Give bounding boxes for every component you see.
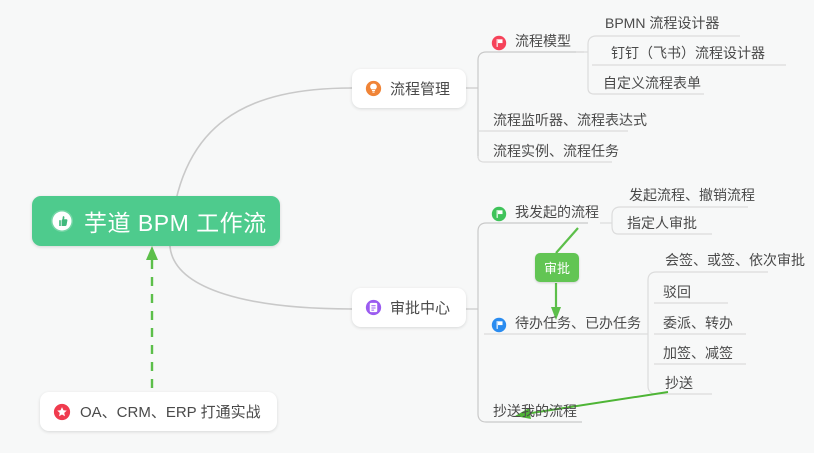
leaf-label: 会签、或签、依次审批 xyxy=(665,250,805,270)
thumbs-up-icon xyxy=(50,209,74,233)
branch-label: 流程管理 xyxy=(390,78,450,99)
leaf-countersign-or-sequential[interactable]: 会签、或签、依次审批 xyxy=(656,249,814,275)
leaf-process-instance-task[interactable]: 流程实例、流程任务 xyxy=(484,140,628,166)
leaf-process-model[interactable]: 流程模型 xyxy=(484,30,580,56)
leaf-label: 自定义流程表单 xyxy=(603,73,701,93)
leaf-label: 加签、减签 xyxy=(663,343,733,363)
lightbulb-icon xyxy=(365,80,382,97)
badge-label: 审批 xyxy=(544,261,570,276)
leaf-label: 流程监听器、流程表达式 xyxy=(493,110,647,130)
leaf-my-initiated-process[interactable]: 我发起的流程 xyxy=(484,201,608,227)
leaf-label: BPMN 流程设计器 xyxy=(605,13,719,33)
root-node[interactable]: 芋道 BPM 工作流 xyxy=(32,196,280,246)
leaf-label: 抄送我的流程 xyxy=(493,401,577,421)
star-icon-red xyxy=(53,403,71,421)
leaf-label: 钉钉（飞书）流程设计器 xyxy=(611,43,765,63)
integration-label: OA、CRM、ERP 打通实战 xyxy=(80,401,261,422)
leaf-reject[interactable]: 驳回 xyxy=(654,281,700,307)
leaf-todo-done-tasks[interactable]: 待办任务、已办任务 xyxy=(484,312,650,338)
leaf-label: 驳回 xyxy=(663,282,691,302)
leaf-cc-to-me-process[interactable]: 抄送我的流程 xyxy=(484,400,586,426)
root-label: 芋道 BPM 工作流 xyxy=(84,204,267,238)
leaf-add-remove-sign[interactable]: 加签、减签 xyxy=(654,342,742,368)
leaf-cc[interactable]: 抄送 xyxy=(656,372,702,398)
approve-annotation-badge: 审批 xyxy=(535,253,579,282)
flag-icon-red xyxy=(491,35,507,51)
leaf-custom-process-form[interactable]: 自定义流程表单 xyxy=(594,72,710,98)
leaf-delegate-transfer[interactable]: 委派、转办 xyxy=(654,312,742,338)
leaf-assignee-approval[interactable]: 指定人审批 xyxy=(618,212,706,238)
leaf-label: 待办任务、已办任务 xyxy=(515,313,641,333)
leaf-label: 委派、转办 xyxy=(663,313,733,333)
leaf-label: 流程实例、流程任务 xyxy=(493,141,619,161)
leaf-dingtalk-feishu-designer[interactable]: 钉钉（飞书）流程设计器 xyxy=(602,42,774,68)
flag-icon-blue xyxy=(491,317,507,333)
mindmap-canvas: 芋道 BPM 工作流 流程管理 流程模型 BPMN 流程设计器 钉钉（飞书）流程 xyxy=(0,0,814,453)
leaf-label: 发起流程、撤销流程 xyxy=(629,185,755,205)
branch-node-approval-center[interactable]: 审批中心 xyxy=(352,288,466,327)
leaf-label: 我发起的流程 xyxy=(515,202,599,222)
flag-icon-green xyxy=(491,206,507,222)
branch-label: 审批中心 xyxy=(390,297,450,318)
leaf-start-cancel-process[interactable]: 发起流程、撤销流程 xyxy=(620,184,764,210)
leaf-label: 流程模型 xyxy=(515,31,571,51)
leaf-label: 指定人审批 xyxy=(627,213,697,233)
leaf-label: 抄送 xyxy=(665,373,693,393)
branch-node-process-management[interactable]: 流程管理 xyxy=(352,69,466,108)
leaf-bpmn-designer[interactable]: BPMN 流程设计器 xyxy=(596,12,728,38)
clipboard-icon-purple xyxy=(365,299,382,316)
leaf-process-listener-expression[interactable]: 流程监听器、流程表达式 xyxy=(484,109,656,135)
integration-node[interactable]: OA、CRM、ERP 打通实战 xyxy=(40,392,277,431)
